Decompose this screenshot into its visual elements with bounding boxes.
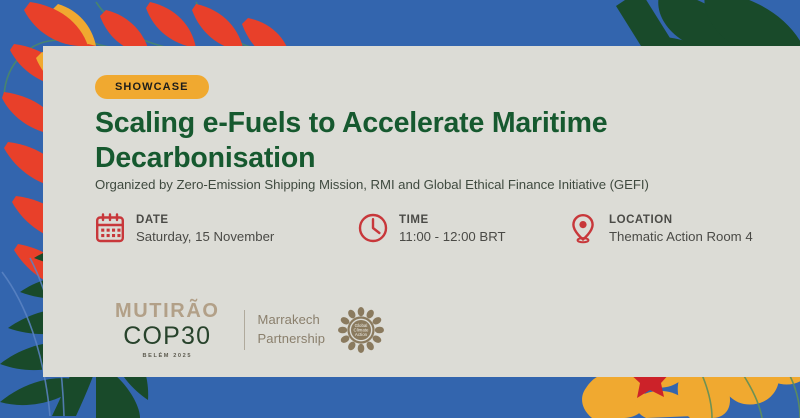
map-pin-icon — [568, 212, 598, 244]
calendar-icon — [95, 212, 125, 244]
event-card: SHOWCASE Scaling e-Fuels to Accelerate M… — [43, 46, 800, 377]
event-meta-row: DATE Saturday, 15 November TIME 11:00 - … — [95, 212, 785, 258]
title-line-2: Decarbonisation — [95, 142, 315, 174]
meta-value-date: Saturday, 15 November — [136, 227, 274, 246]
marrakech-partnership-line-1: Marrakech — [258, 311, 326, 330]
meta-label-location: LOCATION — [609, 213, 753, 227]
cop30-logo: MUTIRÃO COP30 BELÉM 2025 — [115, 301, 220, 360]
cop30-logo-mutirao: MUTIRÃO — [115, 301, 220, 321]
footer-logos: MUTIRÃO COP30 BELÉM 2025 Marrakech Partn… — [115, 301, 384, 360]
cop30-logo-host: BELÉM 2025 — [115, 354, 220, 360]
meta-label-date: DATE — [136, 213, 274, 227]
seal-line-3: Action — [355, 332, 368, 337]
meta-label-time: TIME — [399, 213, 506, 227]
meta-value-time: 11:00 - 12:00 BRT — [399, 227, 506, 246]
global-climate-action-seal: Global Climate Action — [338, 307, 384, 353]
clock-icon — [358, 212, 388, 244]
marrakech-partnership-line-2: Partnership — [258, 330, 326, 349]
meta-item-location: LOCATION Thematic Action Room 4 — [568, 212, 753, 247]
organizers-text: Organized by Zero-Emission Shipping Miss… — [95, 177, 649, 192]
status-badge: SHOWCASE — [95, 75, 209, 99]
title-line-1: Scaling e-Fuels to Accelerate Maritime — [95, 107, 607, 139]
page-title: Scaling e-Fuels to Accelerate Maritime D… — [95, 106, 755, 176]
marrakech-partnership-label: Marrakech Partnership — [258, 311, 326, 349]
meta-item-date: DATE Saturday, 15 November — [95, 212, 274, 247]
meta-value-location: Thematic Action Room 4 — [609, 227, 753, 246]
meta-item-time: TIME 11:00 - 12:00 BRT — [358, 212, 506, 247]
cop30-logo-cop: COP30 — [115, 324, 220, 349]
logo-divider — [244, 310, 245, 350]
